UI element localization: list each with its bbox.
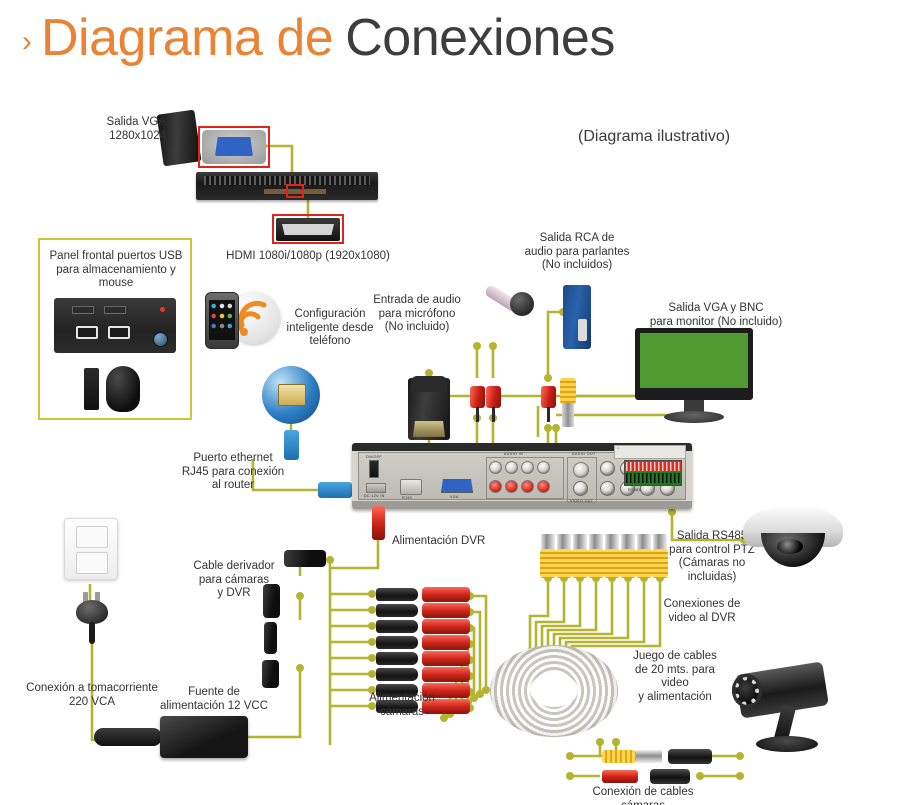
bnc-video-8 (652, 534, 668, 578)
highlight-box-vga (198, 126, 270, 168)
splitter-barrel-top (284, 550, 326, 567)
label-dvr-power: Alimentación DVR (392, 535, 512, 549)
bnc-video-5 (604, 534, 620, 578)
monitor-photo (635, 328, 753, 408)
dvr-power-plug (372, 506, 385, 540)
label-cable-kit: Juego de cables de 20 mts. para video y … (620, 650, 730, 704)
dome-lens (777, 539, 803, 554)
usb-flash-drive-photo (84, 368, 99, 410)
hdmi-port-photo (276, 218, 340, 241)
power-black-4 (376, 636, 418, 649)
vga-cable-plug (408, 378, 450, 440)
port-label-onoff: ON/OFF (366, 455, 382, 459)
dvr-rear-panel: ON/OFF DC 12V IN RJ45 VGA AUDIO IN AUDIO… (352, 443, 692, 509)
bnc-video-2 (556, 534, 572, 578)
rca-barrel (470, 386, 485, 408)
coil-center (530, 673, 578, 707)
rj45-plug-2 (318, 482, 352, 498)
vga-dsub (413, 421, 445, 437)
label-rca-out: Salida RCA de audio para parlantes (No i… (520, 232, 634, 273)
rca-plug-3 (541, 386, 556, 422)
power-red-4 (422, 635, 470, 650)
port-label-video-out: VIDEO OUT (570, 499, 593, 503)
speaker-grille (578, 319, 587, 341)
title-accent-text: Diagrama de (41, 8, 333, 68)
plug-body (76, 600, 108, 624)
bnc-boot (652, 549, 668, 578)
usb-port-1 (76, 326, 98, 339)
cable-conn-yellow (602, 750, 636, 763)
monitor-screen (640, 333, 748, 388)
diagram-page: › Diagrama de Conexiones (Diagrama ilust… (0, 0, 900, 805)
rca-pin (476, 407, 479, 422)
jog-knob (153, 332, 168, 347)
audio-in-5 (521, 461, 534, 474)
cable-conn-bnc (636, 750, 662, 763)
rs485-terminal-block (624, 460, 682, 486)
port-label-rs485: RS485 (628, 488, 641, 492)
label-hdmi: HDMI 1080i/1080p (1920x1080) (212, 250, 404, 264)
bnc-boot (540, 549, 556, 578)
port-label-audio-out: AUDIO OUT (572, 452, 596, 456)
dc-input-port (366, 483, 386, 493)
exit-button-photo (104, 306, 126, 314)
rca-pin (492, 407, 495, 422)
rca-plug-2 (486, 386, 501, 422)
outlet-socket-2 (76, 552, 108, 574)
bnc-boot (572, 549, 588, 578)
label-cam-power: Alimentación cámaras (352, 692, 452, 719)
hdmi-slot (282, 224, 334, 235)
monitor-base (664, 411, 724, 423)
bnc-metal (562, 403, 574, 427)
power-red-5 (422, 651, 470, 666)
cable-conn-black (668, 749, 712, 764)
power-red-3 (422, 619, 470, 634)
bnc-video-1 (540, 534, 556, 578)
audio-in-3 (505, 461, 518, 474)
port-label-rj45: RJ45 (402, 496, 412, 500)
cable-conn-black-2 (650, 769, 690, 784)
power-led-icon (160, 307, 165, 312)
bnc-boot (556, 549, 572, 578)
power-switch[interactable] (369, 460, 379, 478)
power-black-2 (376, 604, 418, 617)
audio-in-8 (537, 480, 550, 493)
label-ethernet: Puerto ethernet RJ45 para conexión al ro… (178, 452, 288, 493)
wall-outlet-photo (64, 518, 118, 580)
rj45-jack-icon (278, 384, 306, 406)
chevron-right-icon: › (22, 25, 32, 59)
plug-cord (89, 622, 95, 644)
vga-hood (411, 376, 447, 392)
video-out-port (573, 481, 588, 496)
bnc-video-3 (572, 534, 588, 578)
smartphone-photo (205, 292, 239, 349)
phone-screen (209, 300, 235, 340)
psu-ac-cord (94, 728, 162, 746)
audio-in-row-top (489, 461, 550, 474)
rj45-port (400, 479, 422, 495)
bnc-boot (620, 549, 636, 578)
power-black-5 (376, 652, 418, 665)
dome-camera-photo (743, 505, 843, 575)
usb-panel-callout: Panel frontal puertos USB para almacenam… (38, 238, 192, 420)
label-psu: Fuente de alimentación 12 VCC (150, 686, 278, 713)
cable-coil-photo (490, 645, 618, 737)
dvr-front-panel-photo (54, 298, 176, 353)
camera-mount (756, 736, 818, 752)
video-in-2 (600, 481, 615, 496)
page-title: › Diagrama de Conexiones (22, 8, 615, 68)
rca-barrel (541, 386, 556, 408)
audio-in-row-bottom (489, 480, 550, 493)
bnc-boot (636, 549, 652, 578)
microphone-photo (470, 292, 534, 344)
ac-power-plug-photo (72, 592, 112, 644)
rca-barrel (486, 386, 501, 408)
bnc-video-7 (636, 534, 652, 578)
audio-in-1 (489, 461, 502, 474)
power-red-2 (422, 603, 470, 618)
vga-port-rear (441, 479, 473, 493)
terminal-pins-bottom (626, 473, 680, 483)
usb-port-2 (108, 326, 130, 339)
bnc-video-4 (588, 534, 604, 578)
label-monitor-out: Salida VGA y BNC para monitor (No inclui… (636, 302, 796, 329)
bnc-boot (560, 378, 576, 404)
cable-conn-red (602, 770, 638, 783)
rca-pin (547, 407, 550, 422)
mouse-photo (106, 366, 140, 412)
illustrative-note: (Diagrama ilustrativo) (578, 128, 730, 146)
splitter-barrel-low (264, 622, 277, 654)
warning-label: ⚠ (614, 445, 686, 459)
speaker-photo (563, 285, 591, 349)
audio-in-2 (489, 480, 502, 493)
label-outlet: Conexión a tomacorriente 220 VCA (14, 682, 170, 709)
splitter-barrel-bottom (262, 660, 279, 688)
bnc-boot (588, 549, 604, 578)
port-label-vga: VGA (450, 495, 459, 499)
power-supply-photo (160, 716, 248, 758)
port-label-audio-in: AUDIO IN (504, 452, 523, 456)
bnc-video-6 (620, 534, 636, 578)
power-black-1 (376, 588, 418, 601)
label-mic-in: Entrada de audio para micrófono (No incl… (365, 294, 469, 335)
power-black-6 (376, 668, 418, 681)
label-splitter: Cable derivador para cámaras y DVR (178, 560, 290, 601)
audio-in-6 (521, 480, 534, 493)
bnc-plug-yellow (560, 378, 576, 428)
port-label-dc: DC 12V IN (364, 494, 385, 498)
highlight-box-dvr-vga (286, 184, 304, 198)
label-video-conn: Conexiones de video al DVR (650, 598, 754, 625)
title-rest-text: Conexiones (345, 8, 615, 68)
label-usb-panel: Panel frontal puertos USB para almacenam… (42, 250, 190, 291)
label-vga-out: Salida VGA 1280x1024 (86, 116, 166, 143)
audio-out-port (573, 462, 589, 478)
video-in-1 (600, 461, 615, 476)
label-cable-conn: Conexión de cables cámaras (578, 786, 708, 805)
globe-rj45-icon (262, 366, 320, 424)
audio-in-4 (505, 480, 518, 493)
power-black-3 (376, 620, 418, 633)
mic-head (510, 292, 534, 316)
bullet-camera-photo (726, 660, 836, 775)
terminal-pins-top (626, 462, 680, 471)
menu-button-photo (72, 306, 94, 314)
outlet-socket-1 (76, 526, 108, 548)
audio-in-7 (537, 461, 550, 474)
bnc-boot (604, 549, 620, 578)
power-red-1 (422, 587, 470, 602)
rca-plug-1 (470, 386, 485, 422)
power-red-6 (422, 667, 470, 682)
